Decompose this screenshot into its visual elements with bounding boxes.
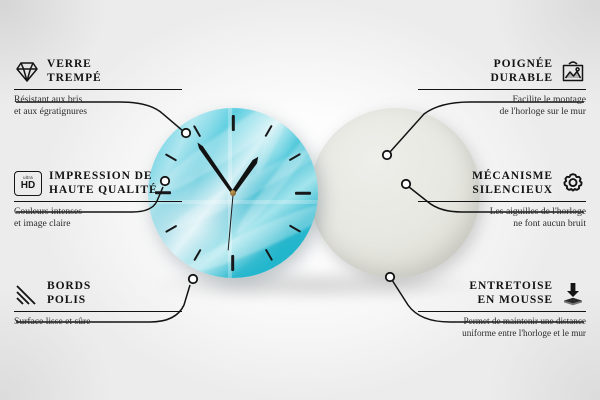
- ultra-hd-icon: ultra HD: [14, 171, 42, 196]
- callout-desc-line2: et aux égratignures: [14, 106, 182, 118]
- callout-divider: [418, 201, 586, 202]
- callout-mecanisme-silencieux[interactable]: MÉCANISME SILENCIEUX Les aiguilles de l'…: [418, 170, 586, 230]
- callout-desc-line2: et image claire: [14, 218, 182, 230]
- callout-desc-line2: de l'horloge sur le mur: [418, 106, 586, 118]
- callout-divider: [14, 311, 182, 312]
- callout-header: VERRE TREMPÉ: [14, 58, 182, 85]
- callout-header: MÉCANISME SILENCIEUX: [418, 170, 586, 197]
- callout-bords-polis[interactable]: BORDS POLIS Surface lisse et sûre: [14, 280, 182, 328]
- callout-header: BORDS POLIS: [14, 280, 182, 307]
- callout-title: VERRE TREMPÉ: [47, 58, 102, 85]
- callout-divider: [14, 89, 182, 90]
- picture-frame-hanger-icon: [560, 59, 586, 85]
- callout-desc-line1: Les aiguilles de l'horloge: [418, 206, 586, 218]
- callout-title: ENTRETOISE EN MOUSSE: [469, 280, 553, 307]
- callout-desc-line2: ne font aucun bruit: [418, 218, 586, 230]
- callout-verre-trempe[interactable]: VERRE TREMPÉ Résistant aux bris et aux é…: [14, 58, 182, 118]
- callout-title: POIGNÉE DURABLE: [490, 58, 553, 85]
- infographic-canvas: VERRE TREMPÉ Résistant aux bris et aux é…: [0, 0, 600, 400]
- callout-desc-line1: Permet de maintenir une distance: [418, 316, 586, 328]
- callout-title: MÉCANISME SILENCIEUX: [472, 170, 553, 197]
- callout-title: BORDS POLIS: [47, 280, 91, 307]
- foam-spacer-icon: [560, 281, 586, 307]
- callout-header: POIGNÉE DURABLE: [418, 58, 586, 85]
- gear-icon: [560, 171, 586, 197]
- callout-impression-haute-qualite[interactable]: ultra HD IMPRESSION DE HAUTE QUALITÉ Cou…: [14, 170, 182, 230]
- callout-entretoise-en-mousse[interactable]: ENTRETOISE EN MOUSSE Permet de maintenir…: [418, 280, 586, 340]
- callout-desc-line1: Résistant aux bris: [14, 94, 182, 106]
- polished-edges-icon: [14, 281, 40, 307]
- callout-desc-line2: uniforme entre l'horloge et le mur: [418, 328, 586, 340]
- callout-title: IMPRESSION DE HAUTE QUALITÉ: [49, 170, 158, 197]
- callout-poignee-durable[interactable]: POIGNÉE DURABLE Facilite le montage de l…: [418, 58, 586, 118]
- callout-divider: [418, 311, 586, 312]
- callout-desc-line1: Surface lisse et sûre: [14, 316, 182, 328]
- hands-center-cap: [230, 190, 236, 196]
- callout-desc-line1: Couleurs intenses: [14, 206, 182, 218]
- diamond-icon: [14, 59, 40, 85]
- callout-divider: [418, 89, 586, 90]
- ultra-hd-icon-main-text: HD: [21, 181, 35, 191]
- callout-header: ENTRETOISE EN MOUSSE: [418, 280, 586, 307]
- callout-desc-line1: Facilite le montage: [418, 94, 586, 106]
- callout-divider: [14, 201, 182, 202]
- callout-header: ultra HD IMPRESSION DE HAUTE QUALITÉ: [14, 170, 182, 197]
